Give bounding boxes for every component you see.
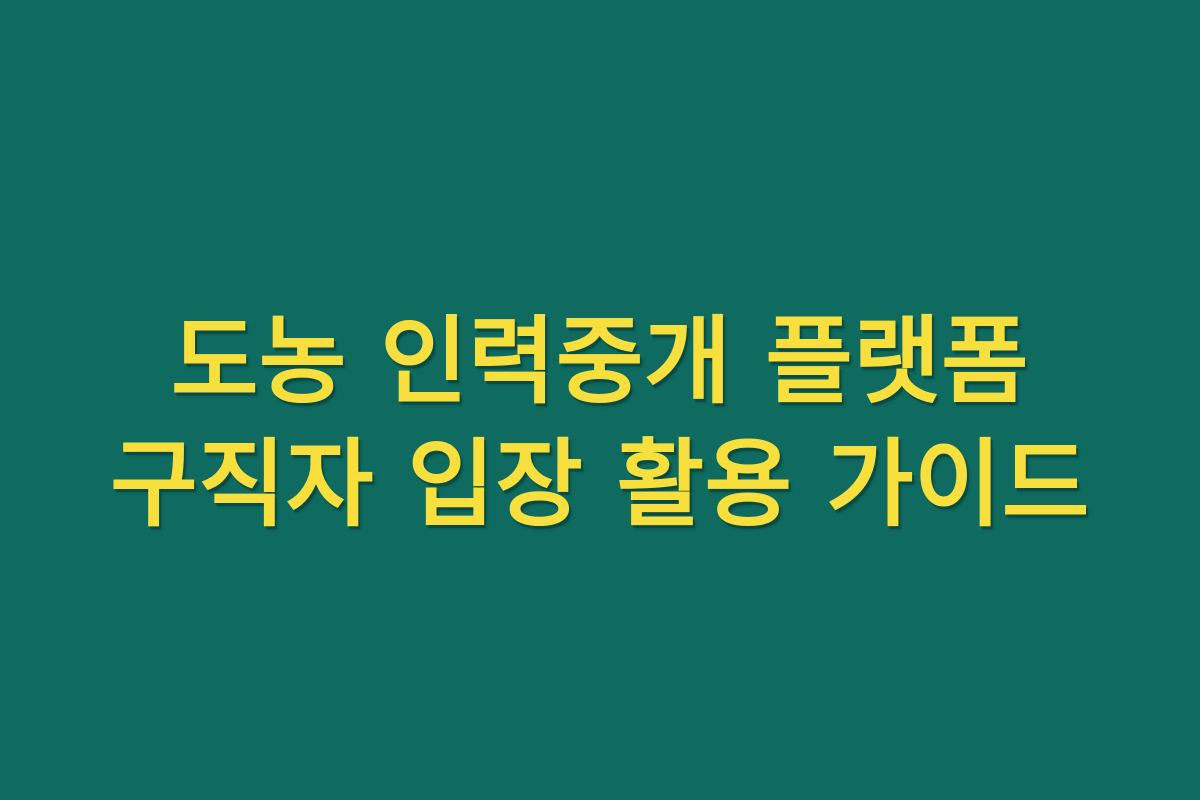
title-line-2: 구직자 입장 활용 가이드 [0, 424, 1200, 548]
title-block: 도농 인력중개 플랫폼 구직자 입장 활용 가이드 [0, 301, 1200, 548]
title-line-1: 도농 인력중개 플랫폼 [0, 301, 1200, 425]
banner-canvas: 도농 인력중개 플랫폼 구직자 입장 활용 가이드 [0, 0, 1200, 800]
